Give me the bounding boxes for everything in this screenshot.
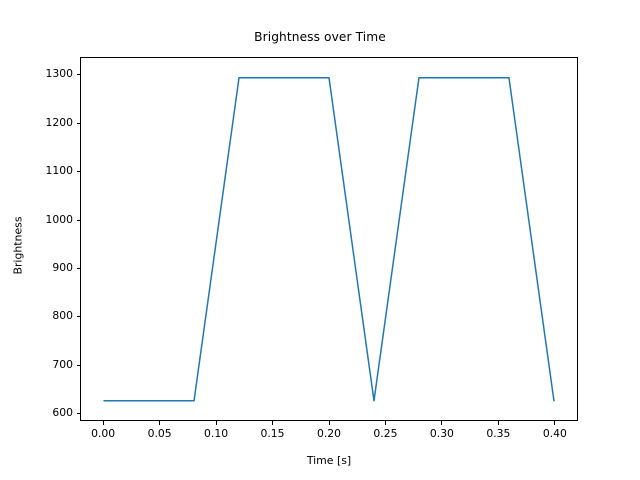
y-tick-label: 1300 <box>0 67 73 80</box>
x-tick-mark <box>329 421 330 425</box>
figure-canvas: Brightness over Time Time [s] Brightness… <box>0 0 640 480</box>
x-tick-mark <box>216 421 217 425</box>
y-tick-label: 1200 <box>0 116 73 129</box>
y-tick-mark <box>77 268 81 269</box>
x-tick-mark <box>554 421 555 425</box>
x-tick-mark <box>441 421 442 425</box>
y-tick-mark <box>77 365 81 366</box>
y-tick-label: 900 <box>0 261 73 274</box>
y-axis-label: Brightness <box>12 166 25 326</box>
chart-title: Brightness over Time <box>0 30 640 44</box>
y-tick-mark <box>77 413 81 414</box>
x-tick-mark <box>385 421 386 425</box>
plot-axes <box>80 57 578 421</box>
y-tick-mark <box>77 123 81 124</box>
y-tick-mark <box>77 74 81 75</box>
y-tick-mark <box>77 220 81 221</box>
x-tick-mark <box>103 421 104 425</box>
data-line-svg <box>81 58 577 420</box>
x-tick-mark <box>272 421 273 425</box>
x-tick-mark <box>159 421 160 425</box>
x-tick-label: 0.40 <box>515 427 595 440</box>
y-tick-label: 600 <box>0 406 73 419</box>
y-tick-label: 700 <box>0 358 73 371</box>
y-tick-label: 1000 <box>0 213 73 226</box>
y-tick-mark <box>77 171 81 172</box>
y-tick-label: 800 <box>0 309 73 322</box>
y-tick-mark <box>77 316 81 317</box>
x-tick-mark <box>498 421 499 425</box>
x-axis-label: Time [s] <box>80 454 578 467</box>
brightness-line <box>104 78 554 401</box>
y-tick-label: 1100 <box>0 164 73 177</box>
